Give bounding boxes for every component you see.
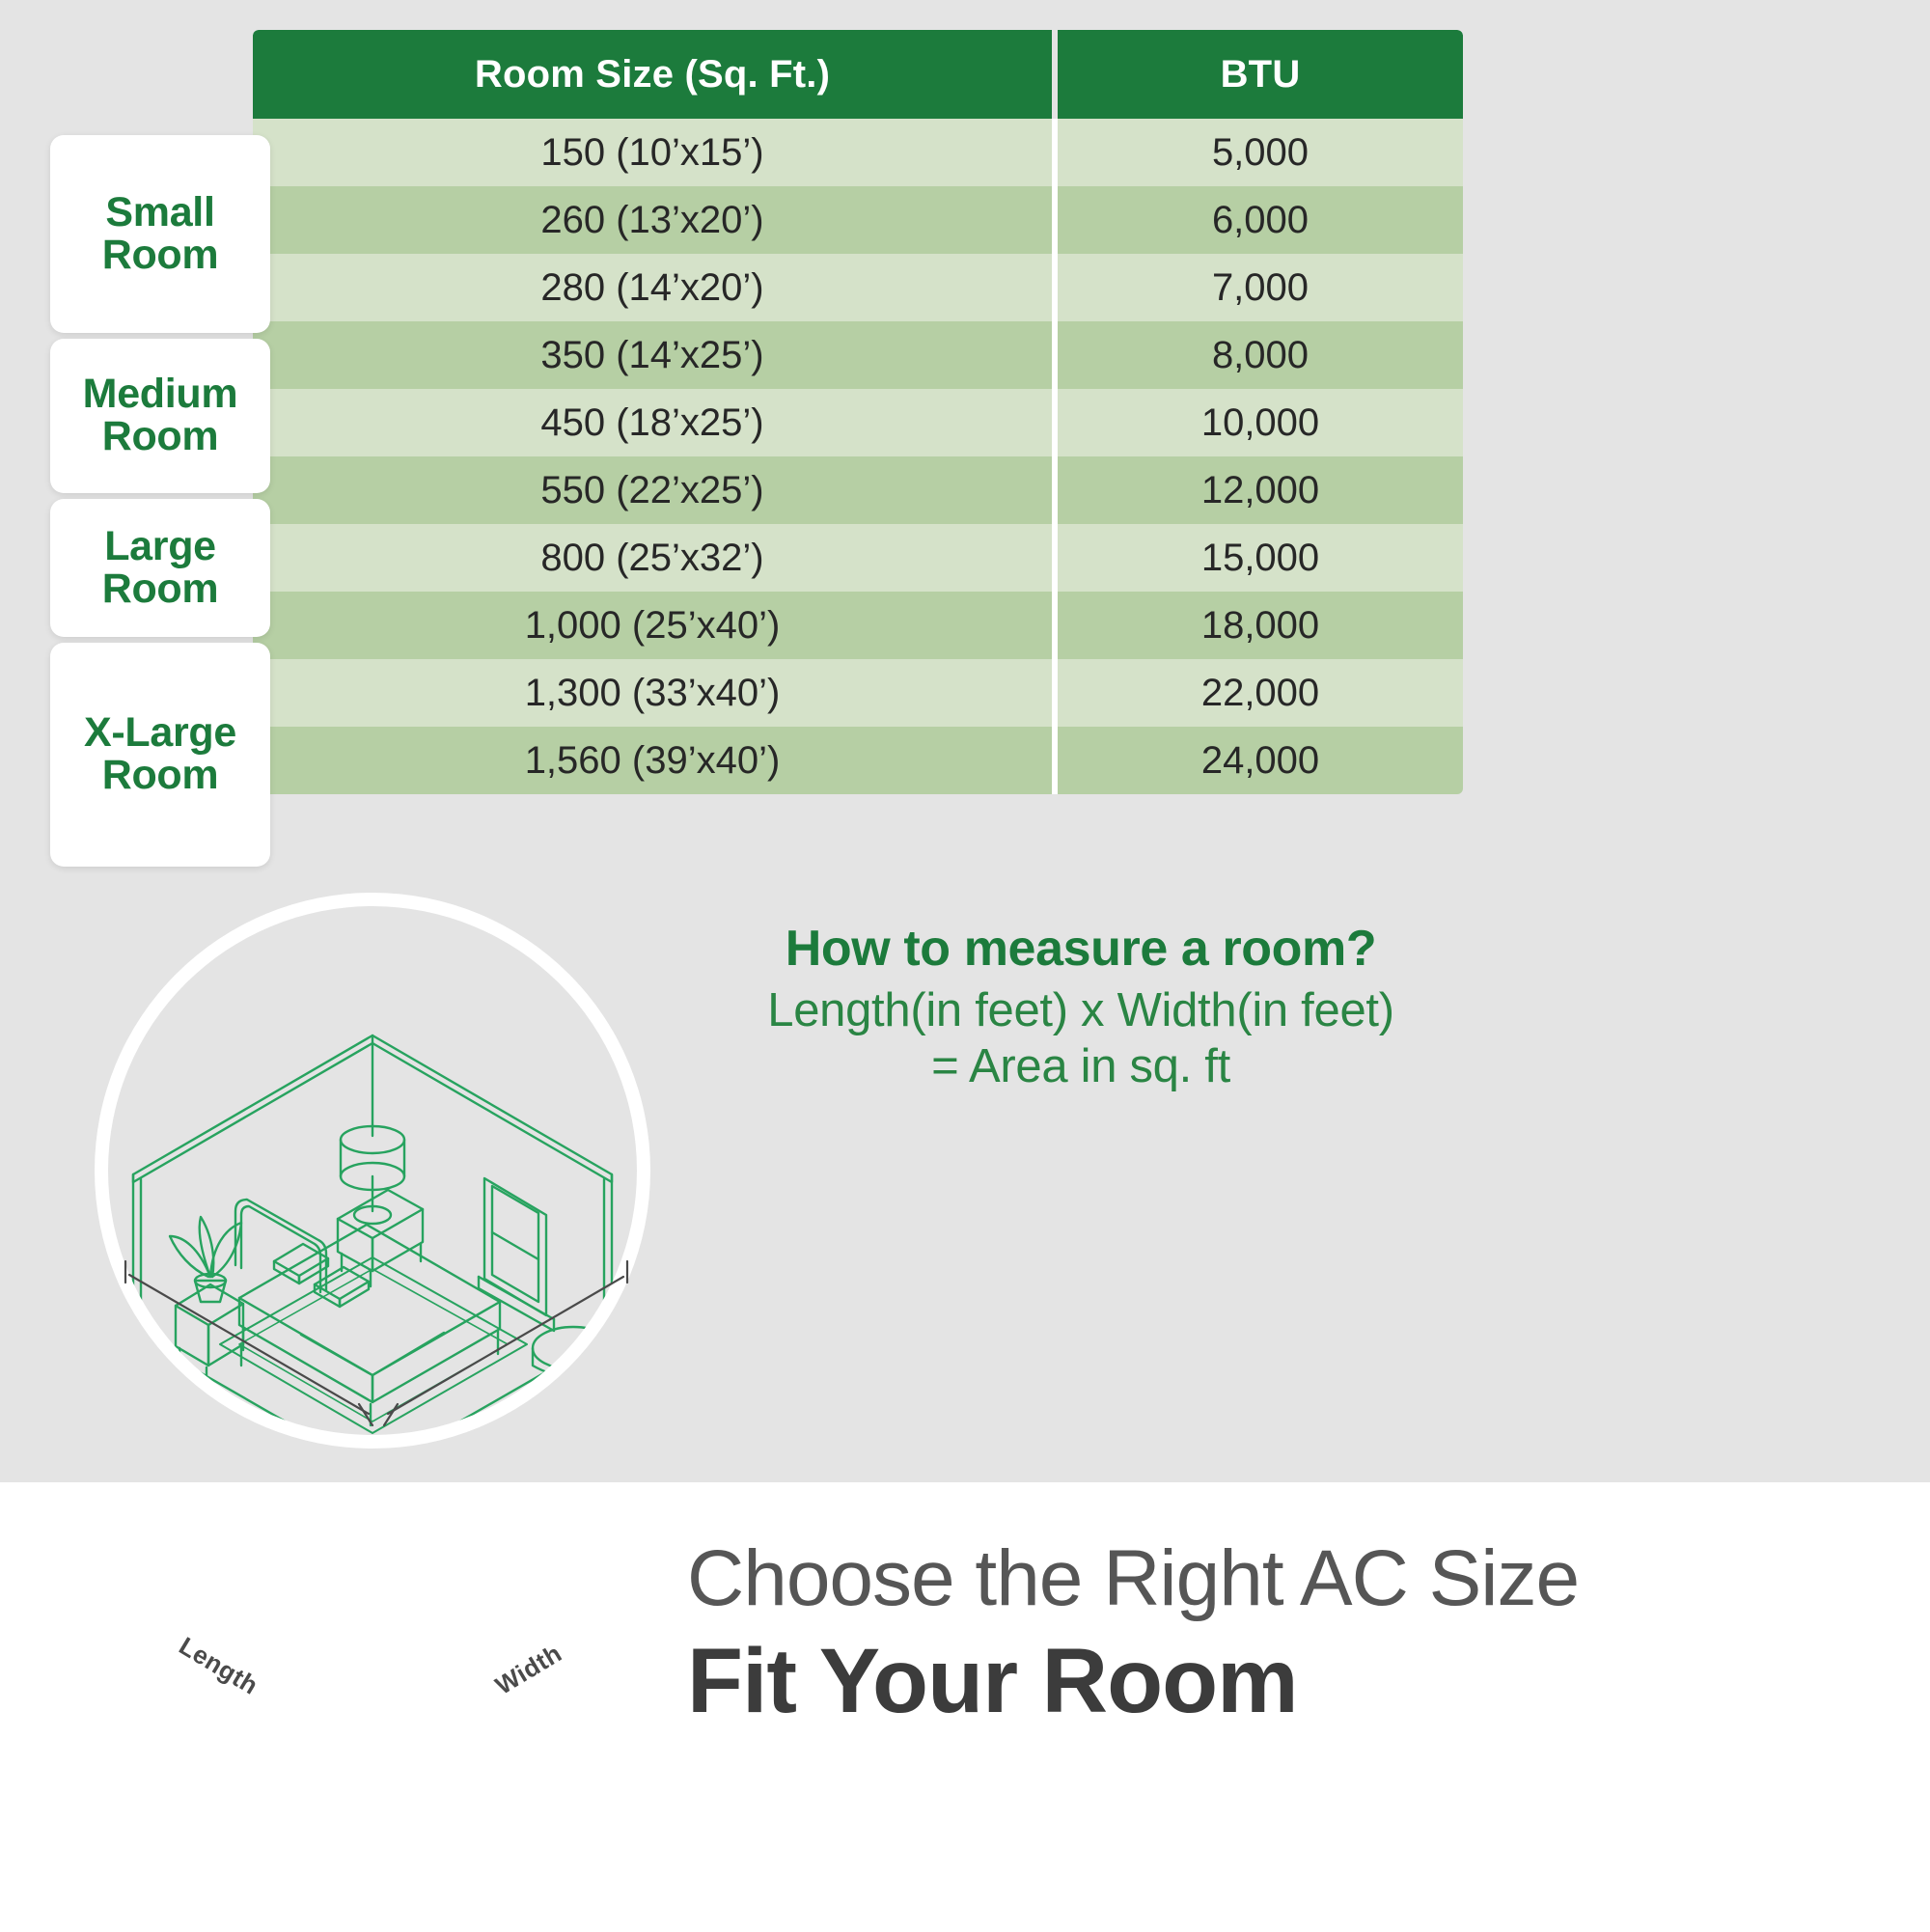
cell-room-size: 800 (25’x32’) <box>253 524 1052 592</box>
cell-btu: 10,000 <box>1058 389 1463 456</box>
category-card-small-room[interactable]: Small Room <box>50 135 270 333</box>
formula-line-1: Length(in feet) x Width(in feet) <box>675 983 1486 1039</box>
cell-btu: 5,000 <box>1058 119 1463 186</box>
cell-btu: 15,000 <box>1058 524 1463 592</box>
cell-room-size: 1,300 (33’x40’) <box>253 659 1052 727</box>
formula-line-2: = Area in sq. ft <box>675 1039 1486 1095</box>
cell-btu: 24,000 <box>1058 727 1463 794</box>
column-header-room-size: Room Size (Sq. Ft.) <box>253 30 1052 119</box>
table-header-row: Room Size (Sq. Ft.) BTU <box>253 30 1463 119</box>
table-row: 150 (10’x15’)5,000 <box>253 119 1463 186</box>
table-row: 1,560 (39’x40’)24,000 <box>253 727 1463 794</box>
category-label-line1: Large <box>104 523 216 569</box>
table-row: 260 (13’x20’)6,000 <box>253 186 1463 254</box>
category-label-large-room: Large Room <box>102 526 219 611</box>
category-card-xlarge-room[interactable]: X-Large Room <box>50 643 270 867</box>
category-label-line2: Room <box>102 752 219 798</box>
column-header-btu: BTU <box>1058 30 1463 119</box>
cell-room-size: 1,000 (25’x40’) <box>253 592 1052 659</box>
category-card-medium-room[interactable]: Medium Room <box>50 339 270 493</box>
cell-btu: 12,000 <box>1058 456 1463 524</box>
headline-line-2: Fit Your Room <box>687 1636 1913 1727</box>
category-card-large-room[interactable]: Large Room <box>50 499 270 637</box>
headline-line-1: Choose the Right AC Size <box>687 1539 1913 1618</box>
table-row: 350 (14’x25’)8,000 <box>253 321 1463 389</box>
cell-btu: 18,000 <box>1058 592 1463 659</box>
isometric-room-illustration <box>95 893 650 1449</box>
table-row: 1,300 (33’x40’)22,000 <box>253 659 1463 727</box>
category-label-line1: Medium <box>83 371 238 417</box>
cell-room-size: 550 (22’x25’) <box>253 456 1052 524</box>
category-label-line2: Room <box>102 566 219 612</box>
category-label-small-room: Small Room <box>102 192 219 277</box>
cell-room-size: 280 (14’x20’) <box>253 254 1052 321</box>
category-label-line2: Room <box>102 413 219 459</box>
cell-room-size: 350 (14’x25’) <box>253 321 1052 389</box>
cell-btu: 8,000 <box>1058 321 1463 389</box>
cell-room-size: 150 (10’x15’) <box>253 119 1052 186</box>
category-label-xlarge-room: X-Large Room <box>84 712 236 797</box>
headline-block: Choose the Right AC Size Fit Your Room <box>687 1539 1913 1727</box>
table-row: 450 (18’x25’)10,000 <box>253 389 1463 456</box>
category-label-line1: X-Large <box>84 709 236 756</box>
table-row: 800 (25’x32’)15,000 <box>253 524 1463 592</box>
category-label-line1: Small <box>105 189 214 235</box>
table-row: 550 (22’x25’)12,000 <box>253 456 1463 524</box>
cell-room-size: 1,560 (39’x40’) <box>253 727 1052 794</box>
category-label-medium-room: Medium Room <box>83 373 238 458</box>
cell-btu: 22,000 <box>1058 659 1463 727</box>
table-row: 280 (14’x20’)7,000 <box>253 254 1463 321</box>
table-body: 150 (10’x15’)5,000260 (13’x20’)6,000280 … <box>253 119 1463 794</box>
cell-room-size: 450 (18’x25’) <box>253 389 1052 456</box>
cell-btu: 7,000 <box>1058 254 1463 321</box>
cell-btu: 6,000 <box>1058 186 1463 254</box>
cell-room-size: 260 (13’x20’) <box>253 186 1052 254</box>
category-label-line2: Room <box>102 232 219 278</box>
btu-table: Room Size (Sq. Ft.) BTU 150 (10’x15’)5,0… <box>253 30 1463 862</box>
how-to-measure-formula: Length(in feet) x Width(in feet) = Area … <box>675 983 1486 1095</box>
table-row: 1,000 (25’x40’)18,000 <box>253 592 1463 659</box>
how-to-measure-title: How to measure a room? <box>675 922 1486 976</box>
how-to-measure-block: How to measure a room? Length(in feet) x… <box>675 922 1486 1095</box>
